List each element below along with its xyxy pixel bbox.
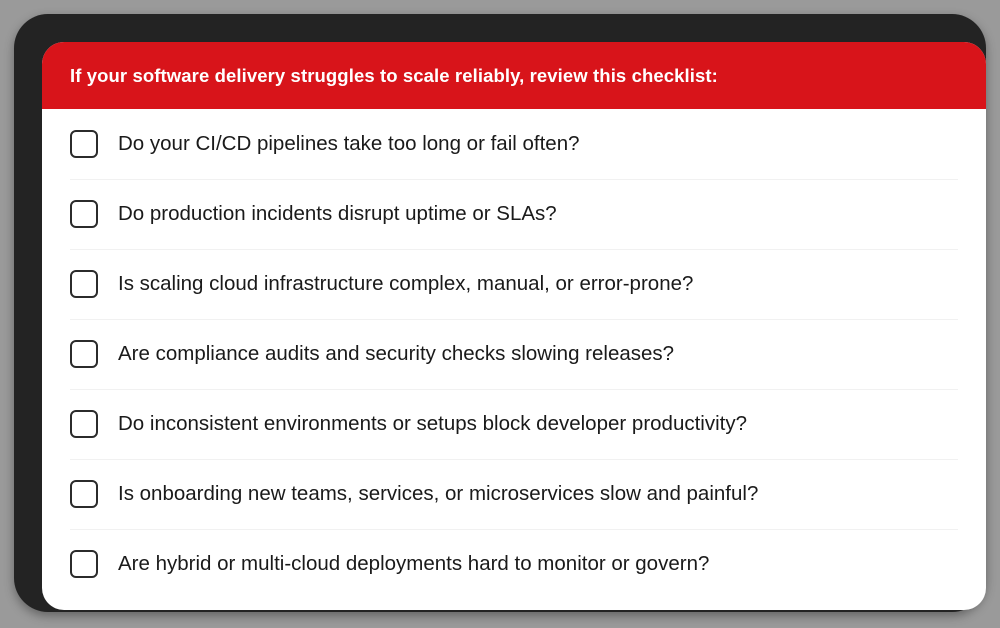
- card-header-title: If your software delivery struggles to s…: [70, 65, 718, 87]
- list-item-label: Are compliance audits and security check…: [118, 342, 674, 367]
- list-item-label: Do your CI/CD pipelines take too long or…: [118, 132, 580, 157]
- list-item[interactable]: Do production incidents disrupt uptime o…: [42, 179, 986, 249]
- device-frame: If your software delivery struggles to s…: [14, 14, 986, 612]
- checklist: Do your CI/CD pipelines take too long or…: [42, 109, 986, 599]
- checklist-card: If your software delivery struggles to s…: [42, 42, 986, 610]
- list-item[interactable]: Are compliance audits and security check…: [42, 319, 986, 389]
- card-header: If your software delivery struggles to s…: [42, 42, 986, 109]
- list-item[interactable]: Is onboarding new teams, services, or mi…: [42, 459, 986, 529]
- checkbox-icon[interactable]: [70, 130, 98, 158]
- list-item-label: Do production incidents disrupt uptime o…: [118, 202, 557, 227]
- list-item[interactable]: Do your CI/CD pipelines take too long or…: [42, 109, 986, 179]
- list-item[interactable]: Are hybrid or multi-cloud deployments ha…: [42, 529, 986, 599]
- checkbox-icon[interactable]: [70, 410, 98, 438]
- checkbox-icon[interactable]: [70, 270, 98, 298]
- list-item[interactable]: Do inconsistent environments or setups b…: [42, 389, 986, 459]
- checkbox-icon[interactable]: [70, 550, 98, 578]
- list-item-label: Is onboarding new teams, services, or mi…: [118, 482, 758, 507]
- checkbox-icon[interactable]: [70, 340, 98, 368]
- list-item-label: Is scaling cloud infrastructure complex,…: [118, 272, 693, 297]
- checkbox-icon[interactable]: [70, 480, 98, 508]
- list-item-label: Are hybrid or multi-cloud deployments ha…: [118, 552, 709, 577]
- checkbox-icon[interactable]: [70, 200, 98, 228]
- list-item[interactable]: Is scaling cloud infrastructure complex,…: [42, 249, 986, 319]
- list-item-label: Do inconsistent environments or setups b…: [118, 412, 747, 437]
